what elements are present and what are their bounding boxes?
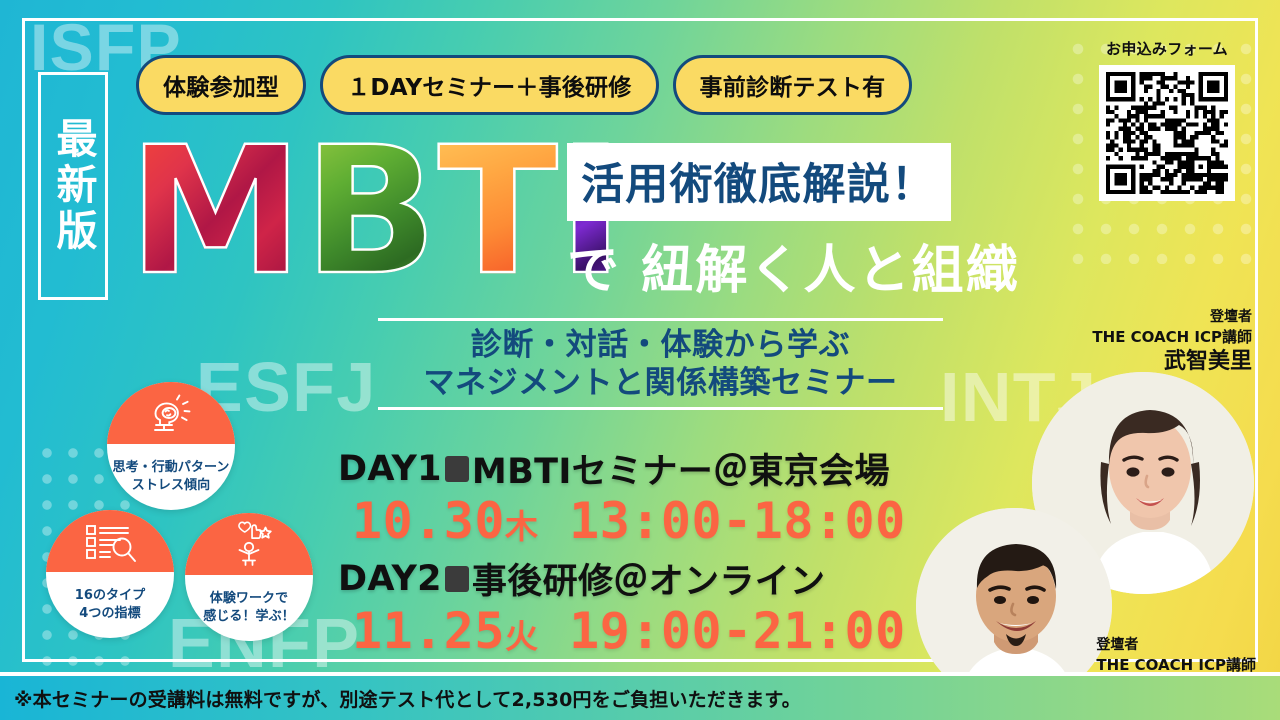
feature-pill-row: 体験参加型 １DAYセミナー＋事後研修 事前診断テスト有	[136, 55, 912, 115]
feature-badge-types: 16のタイプ4つの指標	[46, 510, 174, 638]
speaker-1-org: THE COACH ICP講師	[1092, 327, 1252, 347]
day1-prefix: DAY1	[338, 449, 442, 489]
day1-separator-icon	[445, 456, 469, 482]
day1-date: 10.30	[352, 492, 505, 550]
latest-version-label: 最新版	[43, 117, 103, 255]
footer-note: ※本セミナーの受講料は無料ですが、別途テスト代として2,530円をご負担いただき…	[0, 685, 801, 712]
wordmark-letter-m: M	[128, 138, 301, 286]
subtitle-line-1: 診断・対話・体験から学ぶ	[378, 327, 943, 365]
mbti-wordmark: M B T I	[128, 138, 622, 286]
pill-pre-assessment[interactable]: 事前診断テスト有	[673, 55, 913, 115]
footer-bar: ※本セミナーの受講料は無料ですが、別途テスト代として2,530円をご負担いただき…	[0, 676, 1280, 720]
day1-datetime: 10.30木 13:00-18:00	[352, 492, 906, 550]
speaker-2-role: 登壇者	[1096, 636, 1256, 655]
day2-weekday: 火	[505, 617, 539, 656]
day1-title: DAY1 MBTIセミナー＠東京会場	[338, 443, 906, 494]
feature-badge-workshop: 体験ワークで感じる！学ぶ！	[185, 513, 313, 641]
headline-boxed: 活用術徹底解説！	[567, 143, 951, 221]
feature-badge-thinking: 思考・行動パターンストレス傾向	[107, 382, 235, 510]
speaker-1-role: 登壇者	[1092, 308, 1252, 327]
seminar-poster: ISFP ESFJ ENFP INTJ 最新版 体験参加型 １DAYセミナー＋事…	[0, 0, 1280, 720]
wordmark-letter-t: T	[438, 138, 556, 286]
person-reactions-icon	[185, 513, 313, 575]
subtitle-line-2: マネジメントと関係構築セミナー	[378, 365, 943, 403]
qr-label: お申込みフォーム	[1092, 38, 1242, 59]
subtitle-block: 診断・対話・体験から学ぶ マネジメントと関係構築セミナー	[378, 318, 943, 410]
qr-code-canvas	[1106, 72, 1228, 194]
day2-title-rest: 事後研修＠オンライン	[472, 553, 826, 604]
pill-one-day-seminar[interactable]: １DAYセミナー＋事後研修	[320, 55, 658, 115]
day2-separator-icon	[445, 566, 469, 592]
day1-weekday: 木	[505, 507, 539, 546]
day2-block: DAY2 事後研修＠オンライン 11.25火 19:00-21:00	[338, 553, 906, 660]
feature-3-line2: 感じる！学ぶ！	[203, 609, 294, 624]
day1-block: DAY1 MBTIセミナー＠東京会場 10.30木 13:00-18:00	[338, 443, 906, 550]
headline-boxed-text: 活用術徹底解説！	[581, 160, 935, 210]
day2-prefix: DAY2	[338, 559, 442, 599]
day2-datetime: 11.25火 19:00-21:00	[352, 602, 906, 660]
feature-2-line1: 16のタイプ	[75, 588, 145, 603]
application-qr-block[interactable]: お申込みフォーム	[1092, 38, 1242, 201]
day2-title: DAY2 事後研修＠オンライン	[338, 553, 906, 604]
feature-1-line2: ストレス傾向	[132, 478, 210, 493]
day1-title-rest: MBTIセミナー＠東京会場	[472, 443, 890, 494]
day2-date: 11.25	[352, 602, 505, 660]
day1-time: 13:00-18:00	[569, 492, 906, 550]
pill-experience[interactable]: 体験参加型	[136, 55, 306, 115]
qr-code-icon[interactable]	[1099, 65, 1235, 201]
headline-sub: で 紐解く人と組織	[567, 228, 1020, 303]
speaker-1-name: 武智美里	[1092, 348, 1252, 377]
wordmark-letter-b: B	[303, 138, 435, 286]
latest-version-badge: 最新版	[38, 72, 108, 300]
feature-2-line2: 4つの指標	[79, 606, 140, 621]
speaker-1-meta: 登壇者 THE COACH ICP講師 武智美里	[1092, 308, 1252, 377]
day2-time: 19:00-21:00	[569, 602, 906, 660]
feature-1-line1: 思考・行動パターン	[113, 460, 230, 475]
feature-3-line1: 体験ワークで	[210, 591, 288, 606]
